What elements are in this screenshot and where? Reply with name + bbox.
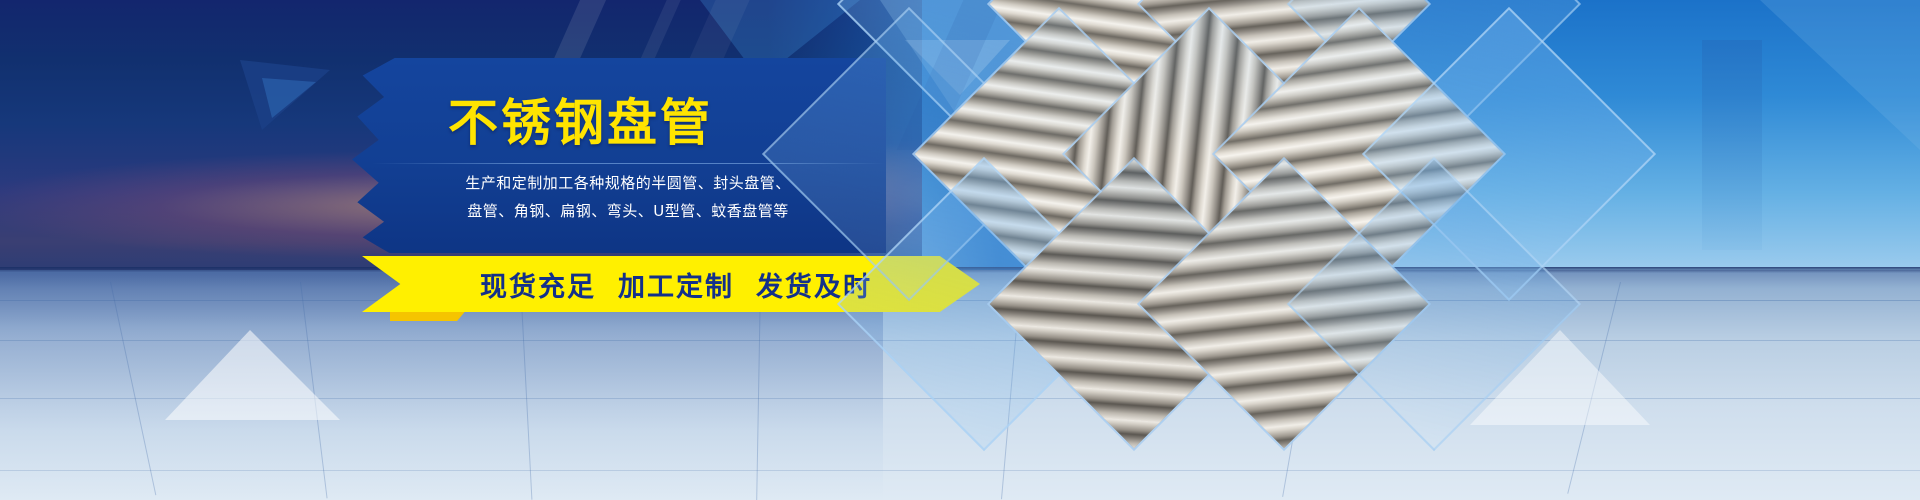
product-hero-banner: 不锈钢盘管 生产和定制加工各种规格的半圆管、封头盘管、 盘管、角钢、扁钢、弯头、… <box>0 0 1920 500</box>
tagline-item-2: 加工定制 <box>618 265 734 304</box>
tagline-item-1: 现货充足 <box>480 265 596 304</box>
product-photo-diamond-grid <box>840 0 1920 500</box>
subtitle-line-2: 盘管、角钢、扁钢、弯头、U型管、蚊香盘管等 <box>372 198 884 226</box>
